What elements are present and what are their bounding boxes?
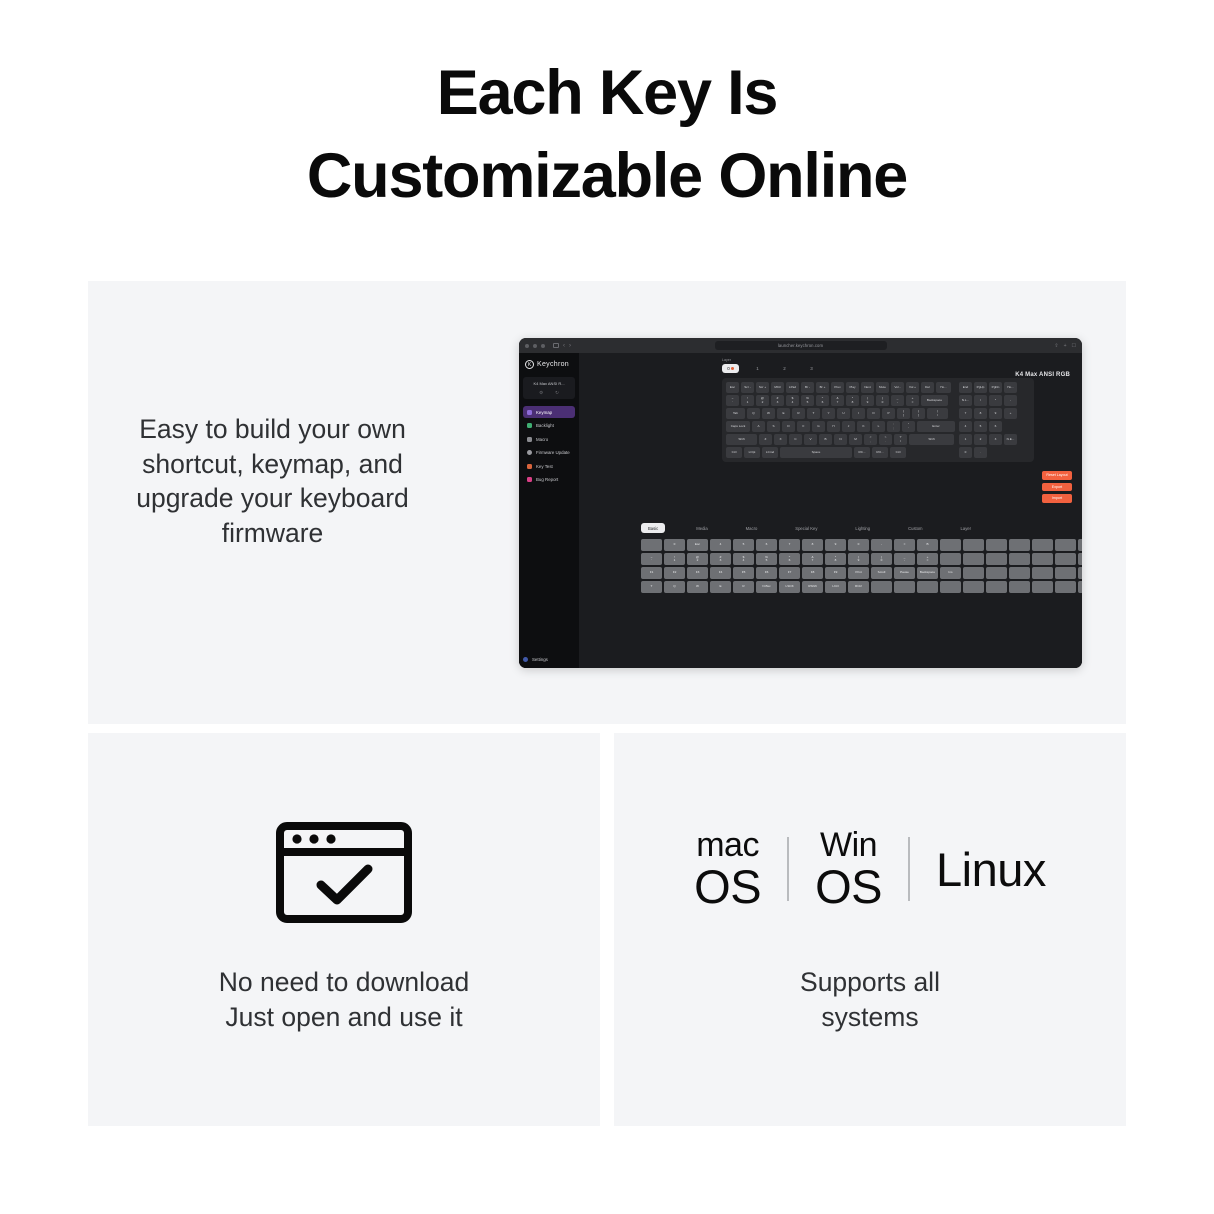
key--[interactable]: _-	[891, 395, 904, 406]
key-esc[interactable]: Esc	[726, 382, 739, 393]
nav-key-5[interactable]: 5	[974, 421, 987, 432]
keyboard-row: Caps LockASDFGHJKL:;"'Enter	[726, 421, 955, 432]
palette-key-blank[interactable]	[1032, 539, 1053, 551]
connect-icon[interactable]: ⚙	[539, 390, 543, 396]
palette-key--2[interactable]: @2	[687, 553, 708, 565]
key-s[interactable]: S	[767, 421, 780, 432]
palette-key-9[interactable]: 9	[825, 539, 846, 551]
key-h[interactable]: H	[827, 421, 840, 432]
key-vol-[interactable]: Vol -	[891, 382, 904, 393]
refresh-icon[interactable]: ↻	[555, 390, 559, 396]
key-w[interactable]: W	[762, 408, 775, 419]
no-download-caption: No need to download Just open and use it	[88, 965, 600, 1034]
promo-page: Each Key Is Customizable Online Easy to …	[0, 0, 1214, 1214]
gear-icon	[523, 657, 528, 662]
palette-key-blank[interactable]	[1009, 553, 1030, 565]
palette-key-blank[interactable]	[1055, 567, 1076, 579]
tab-lighting[interactable]: Lighting	[848, 523, 877, 533]
keyboard-row: TabQWERTYUIOP{[}]|\	[726, 408, 955, 419]
caption-line-2: Just open and use it	[225, 1002, 462, 1032]
palette-key--[interactable]: -	[871, 539, 892, 551]
os-support-logos: mac OS Win OS Linux	[614, 828, 1126, 910]
key-a[interactable]: A	[752, 421, 765, 432]
key-scr-[interactable]: Scr -	[741, 382, 754, 393]
key-m[interactable]: M	[849, 434, 862, 445]
device-actions: ⚙ ↻	[526, 390, 572, 396]
share-icon[interactable]: ⇧	[1054, 343, 1058, 349]
palette-key--0[interactable]: )0	[871, 553, 892, 565]
nav-key--[interactable]: .	[974, 447, 987, 458]
sidebar-nav: Keymap Backlight Macro Firmware Update	[523, 406, 575, 486]
palette-key-blank[interactable]	[917, 581, 938, 593]
sidebar-item-backlight[interactable]: Backlight	[523, 420, 575, 432]
keyboard-nav-row: EndPgUpPgDnHo...	[959, 382, 1017, 393]
nav-key-pgup[interactable]: PgUp	[974, 382, 987, 393]
palette-key--[interactable]: ~`	[641, 553, 662, 565]
palette-key-b[interactable]: B	[917, 539, 938, 551]
sidebar-item-settings[interactable]: Settings	[523, 657, 548, 662]
nav-key-4[interactable]: 4	[959, 421, 972, 432]
keycode-tabs: BasicMediaMacroSpecial KeyLightingCustom…	[641, 523, 978, 533]
key-j[interactable]: J	[842, 421, 855, 432]
palette-key-blank[interactable]	[986, 567, 1007, 579]
palette-key-blank[interactable]	[1055, 581, 1076, 593]
headline-line-1: Each Key Is	[437, 58, 778, 128]
key--[interactable]: }]	[912, 408, 925, 419]
keyboard-row: CtrlLOptLCmdSpaceRC...RO...Ctrl	[726, 447, 955, 458]
nav-key-8[interactable]: 8	[974, 408, 987, 419]
palette-key-blank[interactable]	[1032, 567, 1053, 579]
key-o[interactable]: O	[867, 408, 880, 419]
keyboard-nav-row: N.L.../*-	[959, 395, 1017, 406]
headline-line-2: Customizable Online	[0, 135, 1214, 218]
minimize-icon[interactable]	[533, 344, 537, 348]
key-next[interactable]: Next	[861, 382, 874, 393]
key--0[interactable]: )0	[876, 395, 889, 406]
key-z[interactable]: Z	[759, 434, 772, 445]
import-button[interactable]: Import	[1042, 494, 1072, 503]
tab-media[interactable]: Media	[689, 523, 714, 533]
key--[interactable]: +=	[906, 395, 919, 406]
palette-key-backspace[interactable]: Backspace	[917, 567, 938, 579]
palette-key-rctrl[interactable]: RCtrl	[848, 581, 869, 593]
keyboard-nav-row: 456	[959, 421, 1017, 432]
palette-key-blank[interactable]	[963, 581, 984, 593]
keymap-actions: Reset Layout Export Import	[1042, 471, 1072, 503]
keyboard-row: ~`!1@2#3$4%5^6&7*8(9)0_-+=Backspace	[726, 395, 955, 406]
sidebar-item-label: Settings	[532, 657, 548, 662]
nav-key-ho-[interactable]: Ho...	[1004, 382, 1017, 393]
keyboard-nav-row: 789+	[959, 408, 1017, 419]
key--6[interactable]: ^6	[816, 395, 829, 406]
nav-key--[interactable]: +	[1004, 408, 1017, 419]
nav-key-1[interactable]: 1	[959, 434, 972, 445]
keyboard-nav-row: 123N.E...	[959, 434, 1017, 445]
key-rc-[interactable]: RC...	[854, 447, 870, 458]
key-space[interactable]: Space	[780, 447, 852, 458]
tab-special-key[interactable]: Special Key	[788, 523, 824, 533]
key-shift[interactable]: Shift	[909, 434, 954, 445]
key-ctrl[interactable]: Ctrl	[890, 447, 906, 458]
macro-icon	[527, 437, 532, 442]
feature-card-supports-systems	[614, 733, 1126, 1126]
palette-key-w[interactable]: W	[687, 581, 708, 593]
palette-key-blank[interactable]	[1055, 539, 1076, 551]
palette-key--7[interactable]: &7	[802, 553, 823, 565]
palette-key-f5[interactable]: F5	[733, 567, 754, 579]
key-br-[interactable]: Br -	[801, 382, 814, 393]
key-enter[interactable]: Enter	[917, 421, 955, 432]
palette-key--9[interactable]: (9	[848, 553, 869, 565]
key-d[interactable]: D	[782, 421, 795, 432]
launcher-app-screenshot: ‹ › launcher.keychron.com ⇧ + ☐ K Keychr…	[519, 338, 1082, 668]
palette-key-5[interactable]: 5	[733, 539, 754, 551]
keychron-logo-icon: K	[525, 360, 534, 369]
nav-key-6[interactable]: 6	[989, 421, 1002, 432]
palette-key-f2[interactable]: F2	[664, 567, 685, 579]
palette-key-blank[interactable]	[963, 539, 984, 551]
palette-key-f3[interactable]: F3	[687, 567, 708, 579]
winos-logo-bottom: OS	[815, 863, 882, 910]
reset-layout-button[interactable]: Reset Layout	[1042, 471, 1072, 480]
key-lpad[interactable]: LPad	[786, 382, 799, 393]
layer-tab-1[interactable]: 1	[749, 364, 766, 373]
key-t[interactable]: T	[807, 408, 820, 419]
layer-tab-2[interactable]: 2	[776, 364, 793, 373]
key-l[interactable]: L	[872, 421, 885, 432]
sidebar-item-label: Key Test	[536, 464, 553, 469]
key--[interactable]: <,	[864, 434, 877, 445]
bug-report-icon	[527, 477, 532, 482]
key--[interactable]: ?/	[894, 434, 907, 445]
key-ro-[interactable]: RO...	[872, 447, 888, 458]
palette-key-rshift[interactable]: RShift	[802, 581, 823, 593]
key-prev[interactable]: Prev	[831, 382, 844, 393]
layer-indicator-dot	[731, 367, 734, 370]
nav-key-n-l-[interactable]: N.L...	[959, 395, 972, 406]
macos-logo-bottom: OS	[694, 863, 761, 910]
browser-check-icon	[274, 820, 414, 930]
keymap-icon	[527, 410, 532, 415]
key--1[interactable]: !1	[741, 395, 754, 406]
key--[interactable]: "'	[902, 421, 915, 432]
key-caps-lock[interactable]: Caps Lock	[726, 421, 750, 432]
key-r[interactable]: R	[792, 408, 805, 419]
key--8[interactable]: *8	[846, 395, 859, 406]
key--7[interactable]: &7	[831, 395, 844, 406]
nav-key-0[interactable]: 0	[959, 447, 972, 458]
palette-key-blank[interactable]	[1032, 581, 1053, 593]
key-c[interactable]: C	[789, 434, 802, 445]
key-e[interactable]: E	[777, 408, 790, 419]
winos-logo-top: Win	[820, 828, 877, 862]
backlight-icon	[527, 423, 532, 428]
app-main-panel: Layer 0 1 2 3 K4 Max ANSI RGB EscScr -Sc…	[579, 353, 1082, 668]
palette-key-pause[interactable]: Pause	[894, 567, 915, 579]
keycode-palette: 0Esc4567890-=B~`!1@2#3$4%5^6&7*8(9)0_-+=…	[641, 539, 1082, 593]
close-icon[interactable]	[525, 344, 529, 348]
nav-key-9[interactable]: 9	[989, 408, 1002, 419]
palette-key-blank[interactable]	[1078, 539, 1082, 551]
palette-key-0[interactable]: 0	[664, 539, 685, 551]
forward-arrow-icon[interactable]: ›	[569, 343, 571, 349]
layer-tab-0[interactable]: 0	[722, 364, 739, 373]
palette-key-6[interactable]: 6	[756, 539, 777, 551]
palette-key-8[interactable]: 8	[802, 539, 823, 551]
device-name: K4 Max ANSI R...	[526, 381, 572, 386]
layer-tab-3[interactable]: 3	[803, 364, 820, 373]
sidebar-item-label: Keymap	[536, 410, 552, 415]
layer-tabs: 0 1 2 3	[722, 364, 820, 373]
key-i[interactable]: I	[852, 408, 865, 419]
key-ho-[interactable]: Ho...	[936, 382, 951, 393]
key-mute[interactable]: Mute	[876, 382, 889, 393]
palette-key--[interactable]: +=	[917, 553, 938, 565]
key--[interactable]: >.	[879, 434, 892, 445]
divider	[908, 837, 910, 901]
key-b[interactable]: B	[819, 434, 832, 445]
palette-key-blank[interactable]	[1009, 539, 1030, 551]
palette-key-print[interactable]: Print	[848, 567, 869, 579]
export-button[interactable]: Export	[1042, 483, 1072, 492]
palette-key-f7[interactable]: F7	[779, 567, 800, 579]
palette-key-scroll[interactable]: Scroll	[871, 567, 892, 579]
browser-toolbar-right: ⇧ + ☐	[1054, 343, 1076, 349]
app-sidebar: K Keychron K4 Max ANSI R... ⚙ ↻ Keymap	[519, 353, 579, 668]
key-n[interactable]: N	[834, 434, 847, 445]
sidebar-item-label: Bug Report	[536, 477, 558, 482]
layer-label: Layer	[722, 358, 820, 362]
palette-key-blank[interactable]	[940, 581, 961, 593]
palette-key-r[interactable]: R	[733, 581, 754, 593]
palette-key-lshift[interactable]: LShift	[779, 581, 800, 593]
palette-key-blank[interactable]	[963, 567, 984, 579]
palette-key--6[interactable]: ^6	[779, 553, 800, 565]
palette-key-blank[interactable]	[1009, 581, 1030, 593]
key-ctrl[interactable]: Ctrl	[726, 447, 742, 458]
address-bar[interactable]: launcher.keychron.com	[715, 341, 887, 350]
palette-key-ins[interactable]: Ins	[940, 567, 961, 579]
key-y[interactable]: Y	[822, 408, 835, 419]
key-vol-[interactable]: Vol +	[906, 382, 919, 393]
key--[interactable]: :;	[887, 421, 900, 432]
nav-key-n-e-[interactable]: N.E...	[1004, 434, 1017, 445]
tab-macro[interactable]: Macro	[739, 523, 765, 533]
palette-key-f4[interactable]: F4	[710, 567, 731, 579]
palette-key-blank[interactable]	[940, 553, 961, 565]
key-scr-[interactable]: Scr +	[756, 382, 769, 393]
sidebar-toggle-icon[interactable]	[553, 343, 559, 348]
key-v[interactable]: V	[804, 434, 817, 445]
palette-key-f6[interactable]: F6	[756, 567, 777, 579]
page-title: Each Key Is Customizable Online	[0, 52, 1214, 218]
key--4[interactable]: $4	[786, 395, 799, 406]
sidebar-item-label: Backlight	[536, 423, 554, 428]
new-tab-icon[interactable]: +	[1064, 343, 1067, 349]
sidebar-item-label: Firmware Update	[536, 450, 570, 455]
palette-key-7[interactable]: 7	[779, 539, 800, 551]
layer-selector: Layer 0 1 2 3	[722, 358, 820, 373]
nav-key-2[interactable]: 2	[974, 434, 987, 445]
key-br-[interactable]: Br +	[816, 382, 829, 393]
brand: K Keychron	[525, 360, 575, 369]
palette-key--8[interactable]: *8	[825, 553, 846, 565]
sidebar-item-firmware-update[interactable]: Firmware Update	[523, 447, 575, 459]
sidebar-item-bug-report[interactable]: Bug Report	[523, 474, 575, 486]
winos-logo: Win OS	[815, 828, 882, 910]
palette-row: F1F2F3F4F5F6F7F8F9PrintScrollPauseBacksp…	[641, 567, 1082, 579]
palette-key-4[interactable]: 4	[710, 539, 731, 551]
palette-key-blank[interactable]	[894, 581, 915, 593]
key-u[interactable]: U	[837, 408, 850, 419]
keyboard-layout: EscScr -Scr +MCtlLPadBr -Br +PrevPlayNex…	[722, 378, 1034, 462]
palette-row: 0Esc4567890-=B	[641, 539, 1082, 551]
key--3[interactable]: #3	[771, 395, 784, 406]
palette-key-esc[interactable]: Esc	[687, 539, 708, 551]
feature-description: Easy to build your own shortcut, keymap,…	[130, 412, 415, 550]
tab-basic[interactable]: Basic	[641, 523, 665, 533]
browser-chrome: ‹ › launcher.keychron.com ⇧ + ☐	[519, 338, 1082, 353]
sidebar-item-keymap[interactable]: Keymap	[523, 406, 575, 418]
caption-line-1: No need to download	[219, 967, 469, 997]
palette-key-lctrl[interactable]: LCtrl	[825, 581, 846, 593]
palette-key-blank[interactable]	[986, 581, 1007, 593]
sidebar-item-label: Macro	[536, 437, 548, 442]
palette-key-f8[interactable]: F8	[802, 567, 823, 579]
palette-key--3[interactable]: #3	[710, 553, 731, 565]
key-x[interactable]: X	[774, 434, 787, 445]
palette-key-blank[interactable]	[940, 539, 961, 551]
palette-key--[interactable]: =	[894, 539, 915, 551]
key-mctl[interactable]: MCtl	[771, 382, 784, 393]
palette-key-blank[interactable]	[986, 539, 1007, 551]
divider	[787, 837, 789, 901]
palette-key-blank[interactable]	[1078, 553, 1082, 565]
keyboard-row: EscScr -Scr +MCtlLPadBr -Br +PrevPlayNex…	[726, 382, 955, 393]
palette-key-blank[interactable]	[1032, 553, 1053, 565]
caption-line-1: Supports all	[800, 967, 940, 997]
key--9[interactable]: (9	[861, 395, 874, 406]
layer-tab-label: 0	[727, 366, 730, 371]
keyboard-nav-cluster: EndPgUpPgDnHo...N.L.../*-789+456123N.E..…	[959, 382, 1017, 458]
palette-key-q[interactable]: Q	[664, 581, 685, 593]
key--[interactable]: |\	[927, 408, 948, 419]
palette-key-blank[interactable]	[871, 581, 892, 593]
palette-key--5[interactable]: %5	[756, 553, 777, 565]
supports-systems-caption: Supports all systems	[614, 965, 1126, 1034]
palette-key-blank[interactable]	[963, 553, 984, 565]
app-body: K Keychron K4 Max ANSI R... ⚙ ↻ Keymap	[519, 353, 1082, 668]
palette-key-blank[interactable]	[1009, 567, 1030, 579]
palette-key--1[interactable]: !1	[664, 553, 685, 565]
tab-custom[interactable]: Custom	[901, 523, 929, 533]
palette-key-f1[interactable]: F1	[641, 567, 662, 579]
palette-key-blank[interactable]	[1055, 553, 1076, 565]
back-arrow-icon[interactable]: ‹	[563, 343, 565, 349]
palette-key--4[interactable]: $4	[733, 553, 754, 565]
key-play[interactable]: Play	[846, 382, 859, 393]
device-card[interactable]: K4 Max ANSI R... ⚙ ↻	[523, 377, 575, 399]
keyboard-main-cluster: EscScr -Scr +MCtlLPadBr -Br +PrevPlayNex…	[726, 382, 955, 458]
palette-key-0[interactable]: 0	[848, 539, 869, 551]
linux-logo: Linux	[936, 842, 1046, 897]
sidebar-item-macro[interactable]: Macro	[523, 433, 575, 445]
brand-name: Keychron	[537, 361, 569, 368]
nav-key-pgdn[interactable]: PgDn	[989, 382, 1002, 393]
palette-key--[interactable]: _-	[894, 553, 915, 565]
key-lcmd[interactable]: LCmd	[762, 447, 778, 458]
keyboard-row: ShiftZXCVBNM<,>.?/Shift	[726, 434, 955, 445]
nav-key--[interactable]: /	[974, 395, 987, 406]
sidebar-item-key-test[interactable]: Key Test	[523, 460, 575, 472]
key--2[interactable]: @2	[756, 395, 769, 406]
nav-key-7[interactable]: 7	[959, 408, 972, 419]
key-f[interactable]: F	[797, 421, 810, 432]
key-backspace[interactable]: Backspace	[921, 395, 948, 406]
tab-layer[interactable]: Layer	[954, 523, 978, 533]
palette-key-e[interactable]: E	[710, 581, 731, 593]
nav-key-3[interactable]: 3	[989, 434, 1002, 445]
zoom-icon[interactable]	[541, 344, 545, 348]
key-p[interactable]: P	[882, 408, 895, 419]
key--[interactable]: {[	[897, 408, 910, 419]
palette-key-t[interactable]: T	[641, 581, 662, 593]
caption-line-2: systems	[821, 1002, 918, 1032]
palette-key-blank[interactable]	[1078, 567, 1082, 579]
palette-key-blank[interactable]	[1078, 581, 1082, 593]
palette-key-f9[interactable]: F9	[825, 567, 846, 579]
key-k[interactable]: K	[857, 421, 870, 432]
palette-key-n-bsc[interactable]: N.Bsc	[756, 581, 777, 593]
key-q[interactable]: Q	[747, 408, 760, 419]
macos-logo-top: mac	[696, 828, 759, 862]
macos-logo: mac OS	[694, 828, 761, 910]
key-shift[interactable]: Shift	[726, 434, 757, 445]
keyboard-nav-row: 0.	[959, 447, 1017, 458]
key-lopt[interactable]: LOpt	[744, 447, 760, 458]
key-g[interactable]: G	[812, 421, 825, 432]
key-del[interactable]: Del	[921, 382, 934, 393]
key--5[interactable]: %5	[801, 395, 814, 406]
firmware-update-icon	[527, 450, 532, 455]
nav-key-end[interactable]: End	[959, 382, 972, 393]
palette-row: ~`!1@2#3$4%5^6&7*8(9)0_-+=	[641, 553, 1082, 565]
palette-key-blank[interactable]	[641, 539, 662, 551]
key-tab[interactable]: Tab	[726, 408, 745, 419]
palette-key-blank[interactable]	[986, 553, 1007, 565]
key-test-icon	[527, 464, 532, 469]
nav-key--[interactable]: -	[1004, 395, 1017, 406]
key--[interactable]: ~`	[726, 395, 739, 406]
nav-key--[interactable]: *	[989, 395, 1002, 406]
palette-row: TQWERN.BscLShiftRShiftLCtrlRCtrl	[641, 581, 1082, 593]
tabs-overview-icon[interactable]: ☐	[1072, 343, 1076, 349]
